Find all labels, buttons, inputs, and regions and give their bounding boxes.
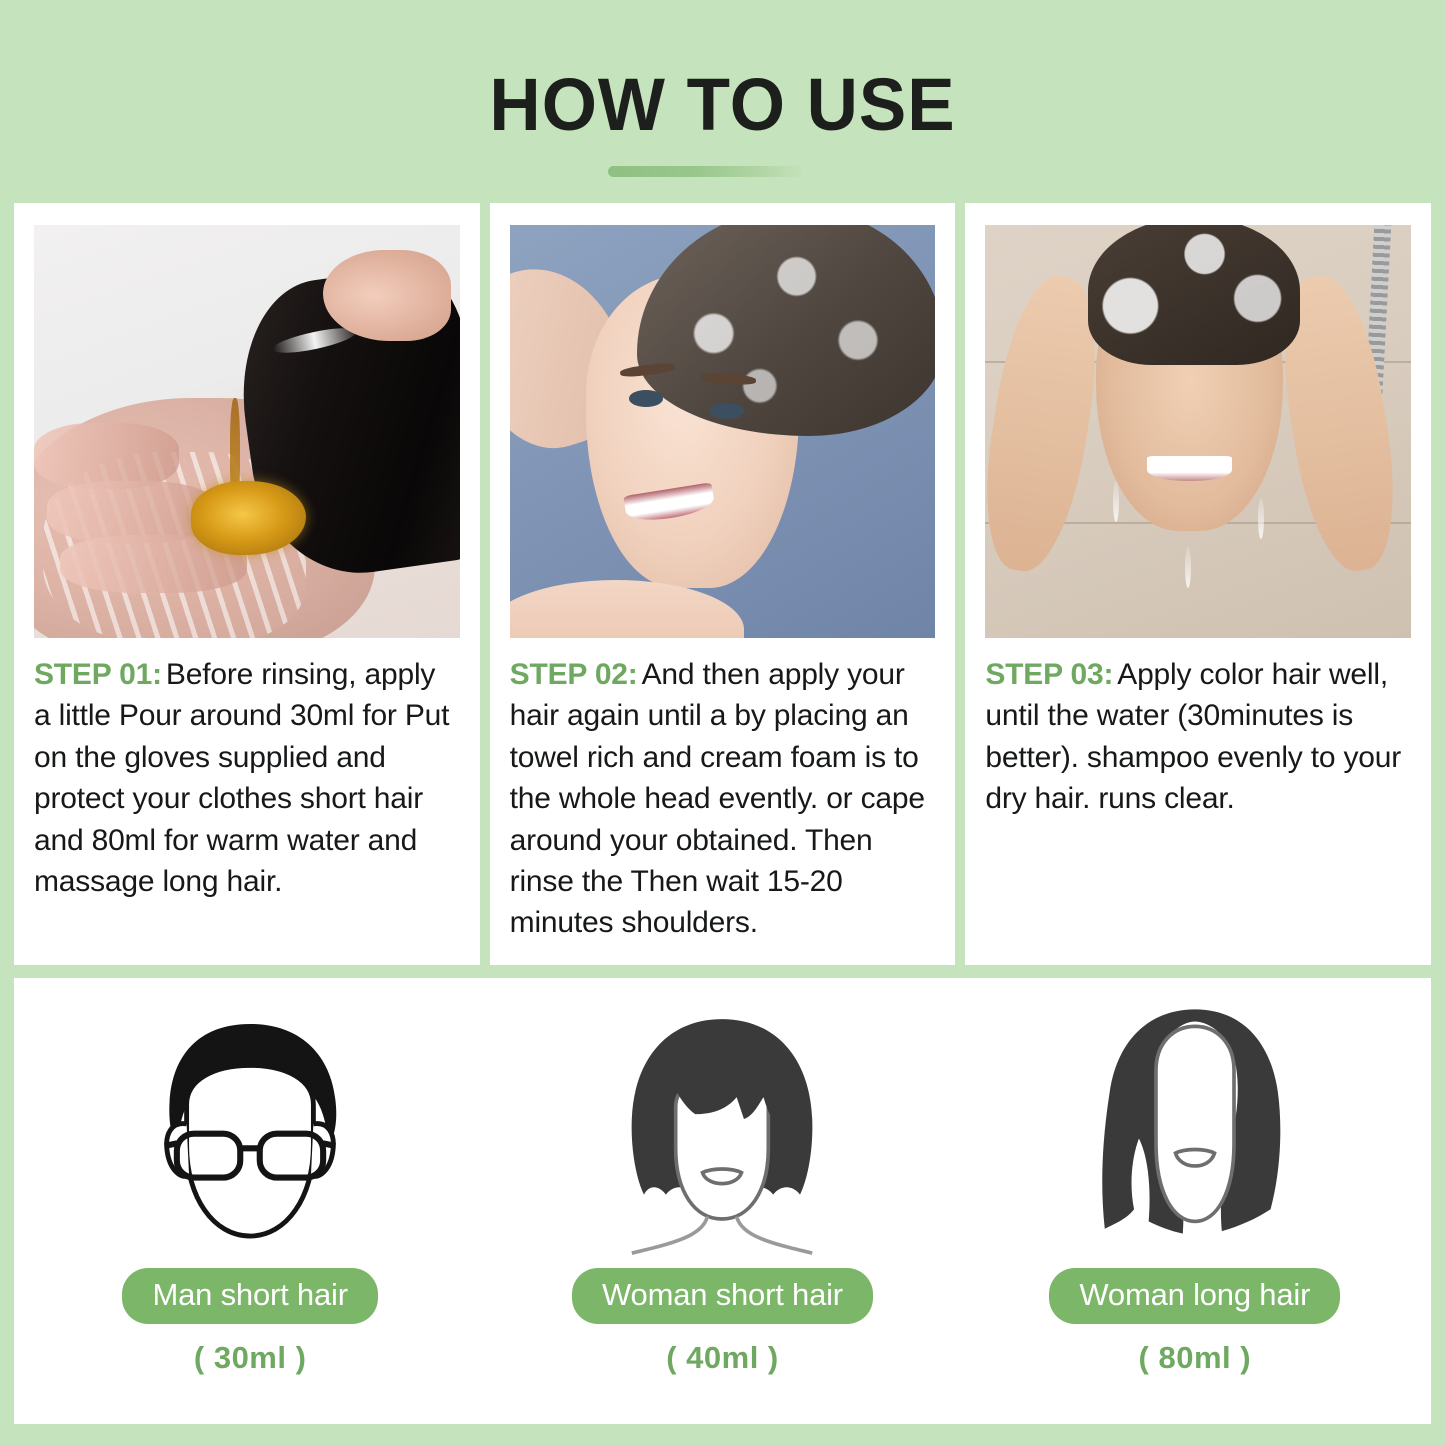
hair-option-woman-long[interactable]: Woman long hair ( 80ml ) [959,978,1431,1424]
step-02-body: And then apply your hair again until a b… [510,658,925,939]
woman-long-hair-icon [1070,1002,1320,1258]
water-drop [1113,481,1119,522]
woman-short-hair-icon [597,1002,847,1258]
lathered-hair-shape [1088,225,1301,365]
step-01-text: STEP 01:Before rinsing, apply a little P… [34,654,460,902]
eye-shape [710,403,744,420]
hair-option-label[interactable]: Woman long hair [1049,1268,1340,1324]
hair-option-label[interactable]: Man short hair [122,1268,377,1324]
title-underline-rule [608,166,804,177]
hair-option-volume: ( 30ml ) [194,1340,307,1376]
smiling-mouth-shape [1147,456,1232,481]
steps-row: STEP 01:Before rinsing, apply a little P… [14,203,1431,965]
step-card-03: STEP 03:Apply color hair well, until the… [965,203,1431,965]
dosage-panel: Man short hair ( 30ml ) Woman short hair… [14,978,1431,1424]
page-title: HOW TO USE [29,62,1416,147]
water-drop [1185,547,1191,588]
shoulder-shape [510,580,744,638]
step-01-body: Before rinsing, apply a little Pour arou… [34,658,449,898]
water-drop [1258,498,1264,539]
step-01-photo [34,225,460,638]
header: HOW TO USE [0,0,1445,200]
step-03-photo [985,225,1411,638]
thumb-shape [323,250,451,341]
hair-option-label[interactable]: Woman short hair [572,1268,873,1324]
step-card-01: STEP 01:Before rinsing, apply a little P… [14,203,480,965]
eye-shape [629,390,663,407]
foamy-hair-shape [637,225,935,436]
hair-option-volume: ( 80ml ) [1139,1340,1252,1376]
how-to-use-infographic: HOW TO USE STEP 01:Before rinsing, apply… [0,0,1445,1445]
hair-option-man-short[interactable]: Man short hair ( 30ml ) [14,978,486,1424]
step-card-02: STEP 02:And then apply your hair again u… [490,203,956,965]
step-02-text: STEP 02:And then apply your hair again u… [510,654,936,944]
man-short-hair-icon [125,1002,375,1258]
step-03-text: STEP 03:Apply color hair well, until the… [985,654,1411,820]
step-01-label: STEP 01: [34,658,162,691]
hair-option-volume: ( 40ml ) [666,1340,779,1376]
step-03-label: STEP 03: [985,658,1113,691]
step-02-photo [510,225,936,638]
finger-shape [34,423,179,489]
step-02-label: STEP 02: [510,658,638,691]
hair-option-woman-short[interactable]: Woman short hair ( 40ml ) [486,978,958,1424]
